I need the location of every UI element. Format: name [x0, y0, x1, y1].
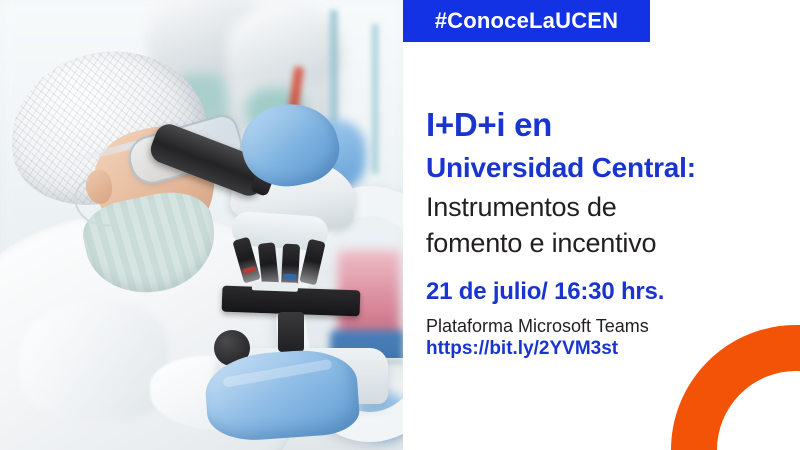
event-registration-link[interactable]: https://bit.ly/2YVM3st	[426, 338, 618, 360]
hashtag-banner: #ConoceLaUCEN	[403, 0, 650, 42]
headline-line-two: Universidad Central:	[426, 152, 696, 184]
laboratory-photo	[0, 0, 403, 450]
lab-coat-fold	[18, 300, 168, 420]
hashtag-label: #ConoceLaUCEN	[435, 8, 619, 34]
event-promo-poster: #ConoceLaUCEN I+D+i en Universidad Centr…	[0, 0, 800, 450]
headline-line-one: I+D+i en	[426, 106, 552, 144]
lab-stand-rod-secondary	[372, 24, 378, 174]
microscope-condenser	[278, 312, 304, 352]
info-panel: #ConoceLaUCEN I+D+i en Universidad Centr…	[403, 0, 800, 450]
microscope-slide-clip	[252, 281, 298, 292]
subtitle-line-one: Instrumentos de	[426, 192, 617, 223]
background-colleague-two-hairnet	[226, 4, 342, 86]
subtitle-line-two: fomento e incentivo	[426, 228, 656, 259]
event-platform: Plataforma Microsoft Teams	[426, 316, 649, 337]
event-date-time: 21 de julio/ 16:30 hrs.	[426, 278, 664, 306]
